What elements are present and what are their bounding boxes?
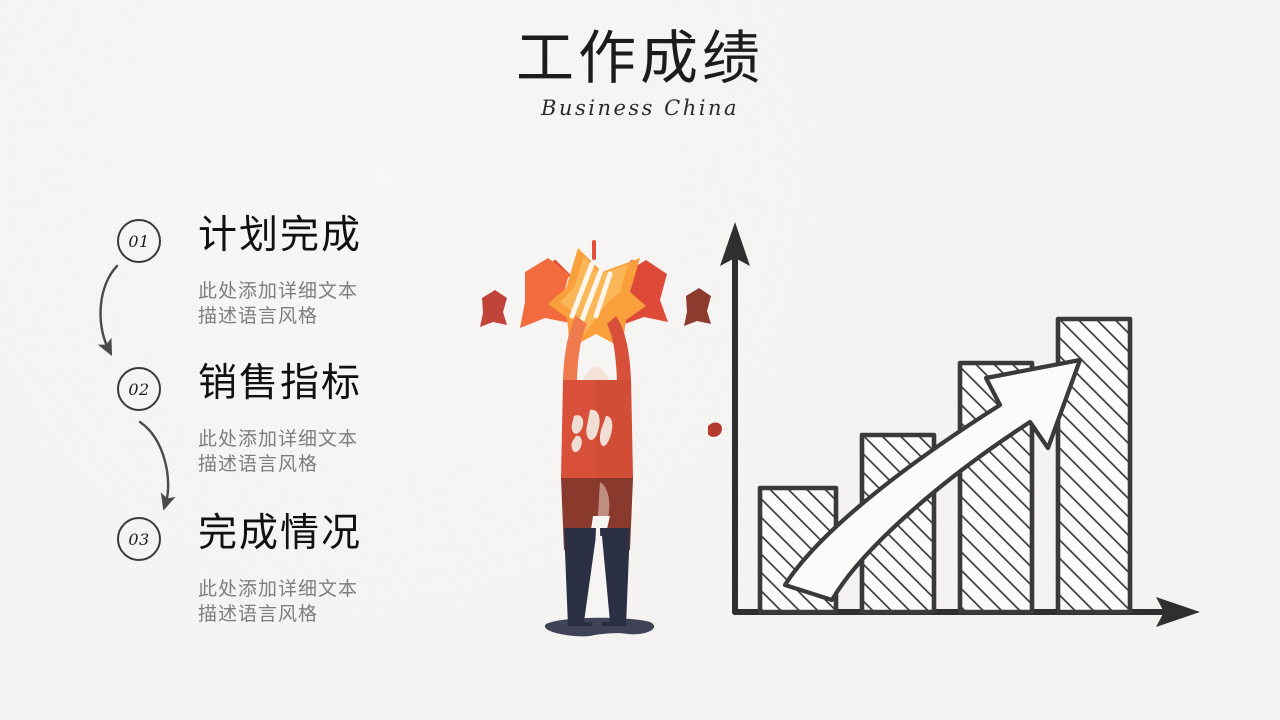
celebrating-person-illustration bbox=[450, 230, 740, 640]
step-number-label-03: 03 bbox=[128, 530, 149, 549]
steps-list: 01 计划完成 此处添加详细文本 描述语言风格 02 销售指标 此处添加详细文本… bbox=[0, 200, 430, 650]
person-arms bbox=[563, 316, 587, 380]
step-number-badge-01: 01 bbox=[117, 219, 161, 263]
step-description-03: 此处添加详细文本 描述语言风格 bbox=[198, 577, 418, 627]
step-description-01-line2: 描述语言风格 bbox=[198, 304, 418, 329]
arrow-step-01-to-02 bbox=[101, 266, 117, 348]
step-description-02: 此处添加详细文本 描述语言风格 bbox=[198, 427, 418, 477]
person-shadow bbox=[545, 618, 654, 637]
step-description-03-line2: 描述语言风格 bbox=[198, 602, 418, 627]
title-block: 工作成绩 Business China bbox=[0, 24, 1280, 120]
chart-y-axis bbox=[720, 222, 750, 612]
star-small-left-dark-icon bbox=[480, 290, 507, 327]
step-description-02-line2: 描述语言风格 bbox=[198, 452, 418, 477]
step-heading-02: 销售指标 bbox=[198, 362, 362, 406]
step-description-02-line1: 此处添加详细文本 bbox=[198, 427, 418, 452]
trophy-star-icon bbox=[548, 248, 646, 348]
step-number-label-01: 01 bbox=[128, 232, 149, 251]
step-description-01: 此处添加详细文本 描述语言风格 bbox=[198, 279, 418, 329]
step-description-03-line1: 此处添加详细文本 bbox=[198, 577, 418, 602]
step-description-01-line1: 此处添加详细文本 bbox=[198, 279, 418, 304]
person-arms-right bbox=[607, 316, 631, 380]
page-title: 工作成绩 bbox=[0, 24, 1280, 94]
step-number-badge-03: 03 bbox=[117, 517, 161, 561]
slide-canvas: 工作成绩 Business China 01 计划完成 此处添加详细文本 bbox=[0, 0, 1280, 720]
step-number-badge-02: 02 bbox=[117, 367, 161, 411]
growth-bar-chart bbox=[700, 200, 1220, 650]
step-number-label-02: 02 bbox=[128, 380, 149, 399]
page-subtitle: Business China bbox=[0, 96, 1280, 120]
arrow-step-02-to-03 bbox=[140, 422, 168, 502]
step-heading-03: 完成情况 bbox=[198, 512, 362, 556]
ink-dot-accent bbox=[708, 422, 722, 436]
step-heading-01: 计划完成 bbox=[198, 214, 362, 258]
